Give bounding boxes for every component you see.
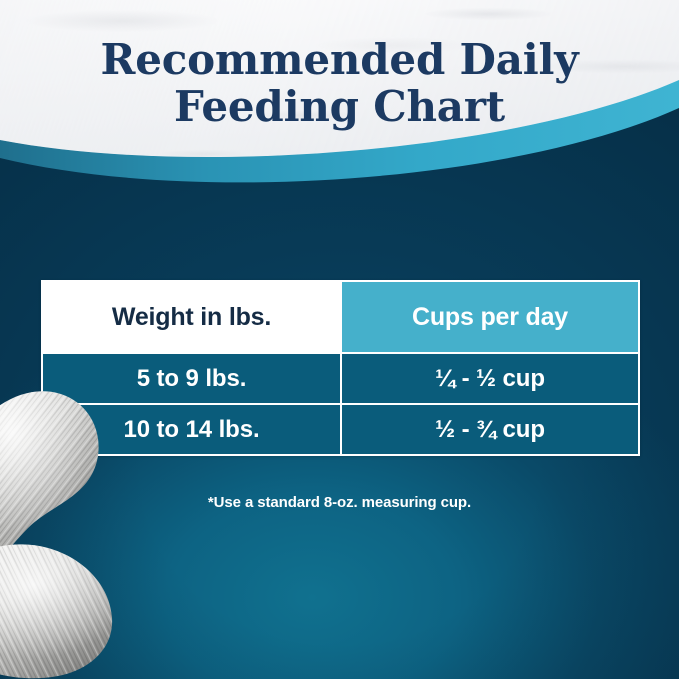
cell-cups-1: ¼ - ½ cup [342, 354, 638, 403]
feeding-table: Weight in lbs. Cups per day 5 to 9 lbs. … [41, 280, 640, 456]
cell-weight-2: 10 to 14 lbs. [43, 405, 342, 454]
cell-cups-2: ½ - ¾ cup [342, 405, 638, 454]
title-line-1: Recommended Daily [101, 35, 579, 84]
table-header-row: Weight in lbs. Cups per day [43, 282, 638, 352]
feeding-chart-graphic: Recommended Daily Feeding Chart Weight i… [0, 0, 679, 679]
cell-weight-1: 5 to 9 lbs. [43, 354, 342, 403]
column-header-weight: Weight in lbs. [43, 282, 342, 352]
table-row: 10 to 14 lbs. ½ - ¾ cup [43, 403, 638, 454]
table-row: 5 to 9 lbs. ¼ - ½ cup [43, 352, 638, 403]
column-header-cups: Cups per day [342, 282, 638, 352]
title-line-2: Feeding Chart [0, 83, 679, 130]
page-title: Recommended Daily Feeding Chart [0, 36, 679, 130]
footnote: *Use a standard 8-oz. measuring cup. [0, 494, 679, 511]
